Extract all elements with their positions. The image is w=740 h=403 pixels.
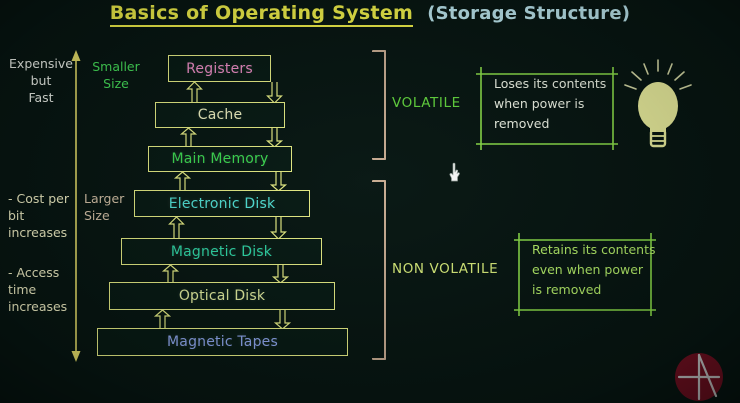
- callout-text-volatile: Loses its contents when power is removed: [484, 68, 624, 148]
- page-title: Basics of Operating System (Storage Stru…: [0, 2, 740, 24]
- hierarchy-box-main-memory[interactable]: Main Memory: [148, 146, 292, 172]
- hierarchy-box-optical-disk[interactable]: Optical Disk: [109, 282, 335, 310]
- whiteboard-lecture-slide: Basics of Operating System (Storage Stru…: [0, 0, 740, 403]
- hierarchy-box-cache[interactable]: Cache: [155, 102, 285, 128]
- bracket-volatile: [372, 50, 386, 160]
- arrow-pair-magnetic-disk-optical-disk: [160, 265, 310, 283]
- title-subtitle-text: (Storage Structure): [427, 3, 630, 24]
- hand-pointer-cursor: [447, 162, 463, 184]
- label-volatile: VOLATILE: [392, 95, 461, 111]
- arrow-pair-optical-disk-magnetic-tapes: [152, 310, 312, 329]
- bracket-non-volatile: [372, 180, 386, 360]
- channel-logo-watermark: [672, 352, 726, 402]
- hierarchy-box-magnetic-disk[interactable]: Magnetic Disk: [121, 238, 322, 265]
- arrow-pair-main-memory-electronic-disk: [172, 172, 302, 191]
- note-smaller-size: Smaller Size: [82, 58, 150, 92]
- light-bulb-icon: [620, 58, 696, 150]
- label-non-volatile: NON VOLATILE: [392, 261, 498, 277]
- arrow-pair-electronic-disk-magnetic-disk: [166, 217, 306, 239]
- title-main-text: Basics of Operating System: [110, 2, 413, 27]
- note-larger-size: Larger Size: [84, 190, 140, 224]
- note-expensive-but-fast: Expensive but Fast: [2, 55, 80, 106]
- hierarchy-box-registers[interactable]: Registers: [168, 55, 271, 82]
- callout-text-non-volatile: Retains its contents even when power is …: [522, 234, 664, 314]
- vertical-axis-arrow-icon: [70, 50, 82, 362]
- hierarchy-box-electronic-disk[interactable]: Electronic Disk: [134, 190, 310, 217]
- arrow-pair-registers-cache: [184, 82, 294, 103]
- arrow-pair-cache-main-memory: [178, 128, 298, 147]
- hierarchy-box-magnetic-tapes[interactable]: Magnetic Tapes: [97, 328, 348, 356]
